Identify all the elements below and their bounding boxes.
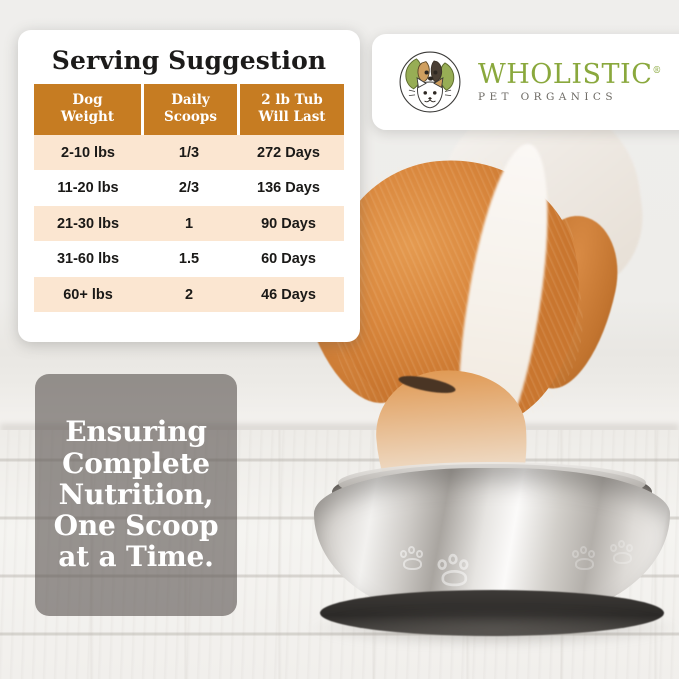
cell-daily-scoops: 2 (142, 287, 236, 303)
cell-tub-duration: 272 Days (236, 145, 341, 161)
brand-subtitle: PET ORGANICS (478, 91, 662, 103)
table-header-row: Dog Weight Daily Scoops 2 lb Tub Will La… (34, 84, 344, 135)
dog-bowl (290, 440, 679, 650)
table-row: 21-30 lbs 1 90 Days (34, 206, 344, 242)
brand-logo-panel: WHOLISTIC® PET ORGANICS (372, 34, 679, 130)
cell-tub-duration: 46 Days (236, 287, 341, 303)
page-title: Serving Suggestion (34, 46, 344, 75)
column-header-line: Dog (36, 92, 139, 109)
registered-trademark-icon: ® (652, 66, 662, 76)
column-header-tub-duration: 2 lb Tub Will Last (240, 84, 344, 135)
cell-daily-scoops: 1 (142, 216, 236, 232)
brand-wordmark: WHOLISTIC® PET ORGANICS (478, 61, 662, 103)
cell-dog-weight: 31-60 lbs (34, 251, 142, 267)
cell-dog-weight: 2-10 lbs (34, 145, 142, 161)
table-row: 31-60 lbs 1.5 60 Days (34, 241, 344, 277)
paw-print-icon (437, 554, 472, 586)
cell-daily-scoops: 1/3 (142, 145, 236, 161)
cell-daily-scoops: 2/3 (142, 180, 236, 196)
cell-dog-weight: 21-30 lbs (34, 216, 142, 232)
column-header-daily-scoops: Daily Scoops (144, 84, 237, 135)
cell-tub-duration: 60 Days (236, 251, 341, 267)
column-header-line: 2 lb Tub (242, 92, 342, 109)
product-marketing-image: Serving Suggestion Dog Weight Daily Scoo… (0, 0, 679, 679)
cell-tub-duration: 90 Days (236, 216, 341, 232)
paw-print-icon (400, 546, 426, 570)
table-row: 11-20 lbs 2/3 136 Days (34, 170, 344, 206)
paw-print-icon (610, 540, 636, 564)
cell-tub-duration: 136 Days (236, 180, 341, 196)
brand-name: WHOLISTIC® (478, 61, 662, 88)
dog-cat-leaf-badge-icon (396, 48, 464, 116)
cell-daily-scoops: 1.5 (142, 251, 236, 267)
tagline-line: Complete (45, 449, 227, 479)
column-header-line: Will Last (242, 109, 342, 126)
tagline-overlay: Ensuring Complete Nutrition, One Scoop a… (35, 374, 237, 616)
tagline-line: at a Time. (45, 542, 227, 572)
cell-dog-weight: 60+ lbs (34, 287, 142, 303)
column-header-line: Weight (36, 109, 139, 126)
paw-print-icon (572, 546, 598, 570)
brand-name-text: WHOLISTIC (478, 59, 652, 90)
column-header-dog-weight: Dog Weight (34, 84, 141, 135)
tagline-line: One Scoop (45, 511, 227, 541)
tagline-line: Ensuring (45, 417, 227, 447)
table-row: 2-10 lbs 1/3 272 Days (34, 135, 344, 171)
cell-dog-weight: 11-20 lbs (34, 180, 142, 196)
table-row: 60+ lbs 2 46 Days (34, 277, 344, 313)
bowl-shadow (304, 608, 679, 648)
column-header-line: Daily (146, 92, 235, 109)
serving-suggestion-card: Serving Suggestion Dog Weight Daily Scoo… (18, 30, 360, 342)
tagline-line: Nutrition, (45, 480, 227, 510)
column-header-line: Scoops (146, 109, 235, 126)
